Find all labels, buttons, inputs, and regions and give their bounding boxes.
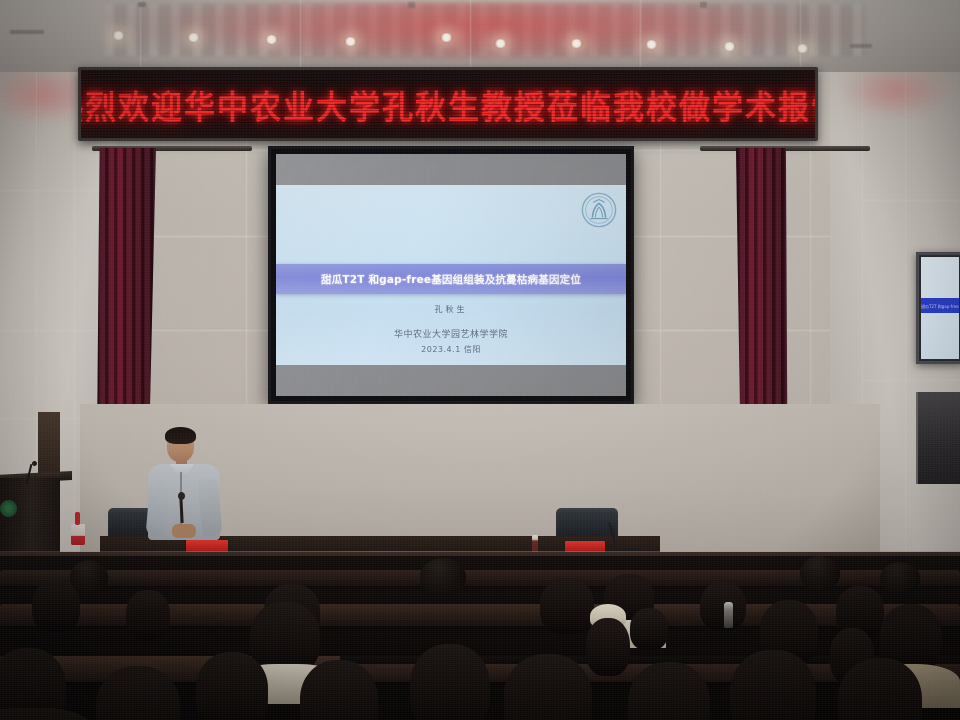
ceiling-downlight — [494, 39, 507, 48]
wall-seam — [0, 190, 100, 191]
audience-head — [420, 558, 466, 596]
ceiling-fixture — [138, 2, 146, 7]
ceiling-downlight — [440, 33, 453, 42]
audience-head — [730, 650, 816, 720]
audience-head — [880, 562, 920, 594]
ceiling-downlight — [112, 31, 125, 40]
wall-seam — [862, 200, 960, 201]
slide-author: 孔秋生 — [276, 304, 626, 315]
side-monitor-screen: 甜瓜T2T 和gap-free基因组组装及抗蔓枯病基因定位 — [921, 257, 959, 359]
water-bottle — [724, 602, 733, 628]
lectern[interactable] — [0, 478, 60, 556]
ceiling-red-reflection — [105, 2, 865, 60]
audience-head — [32, 580, 80, 632]
side-monitor-title-text: 甜瓜T2T 和gap-free基因组组装及抗蔓枯病基因定位 — [921, 298, 959, 315]
presentation-slide: 甜瓜T2T 和gap-free基因组组装及抗蔓枯病基因定位 孔秋生 华中农业大学… — [276, 185, 626, 364]
wall-seam — [74, 0, 75, 560]
right-wall-alcove — [916, 392, 960, 484]
ceiling-downlight — [344, 37, 357, 46]
ceiling-fixture — [408, 2, 415, 8]
audience-shoulders — [0, 708, 92, 720]
slide-affiliation: 华中农业大学园艺林学学院 — [276, 327, 626, 340]
led-welcome-banner: 热烈欢迎华中农业大学孔秋生教授莅临我校做学术报告 — [78, 67, 818, 141]
audience-head — [410, 644, 490, 720]
audience-head — [126, 590, 170, 640]
ceiling-downlight — [570, 39, 583, 48]
ceiling — [0, 0, 960, 72]
cup-lid — [75, 512, 80, 525]
drinking-cup — [71, 524, 85, 545]
ceiling-fixture — [850, 44, 872, 48]
audience-head — [540, 578, 594, 634]
audience-head — [504, 654, 592, 720]
slide-title: 甜瓜T2T 和gap-free基因组组装及抗蔓枯病基因定位 — [321, 272, 581, 287]
presenter-hands — [172, 524, 196, 538]
presenter-microphone-head — [178, 492, 185, 500]
slide-title-band: 甜瓜T2T 和gap-free基因组组装及抗蔓枯病基因定位 — [276, 264, 626, 294]
wall-seam — [862, 380, 960, 381]
ceiling-fixture — [700, 2, 707, 8]
audience-head — [196, 652, 268, 720]
projection-screen[interactable]: 甜瓜T2T 和gap-free基因组组装及抗蔓枯病基因定位 孔秋生 华中农业大学… — [268, 146, 634, 404]
lectern-microphone-head — [32, 461, 37, 466]
audience-head — [800, 556, 840, 590]
side-monitor-title-band: 甜瓜T2T 和gap-free基因组组装及抗蔓枯病基因定位 — [921, 298, 959, 313]
slide-date-location: 2023.4.1 信阳 — [276, 344, 626, 355]
wall-seam — [0, 330, 100, 331]
audience-head — [586, 618, 630, 676]
audience-head — [630, 608, 668, 650]
led-banner-text: 热烈欢迎华中农业大学孔秋生教授莅临我校做学术报告 — [78, 81, 818, 128]
ceiling-downlight — [187, 33, 200, 42]
side-monitor[interactable]: 甜瓜T2T 和gap-free基因组组装及抗蔓枯病基因定位 — [916, 252, 960, 364]
university-emblem-icon — [580, 191, 618, 229]
ceiling-downlight — [723, 42, 736, 51]
wall-seam — [905, 0, 906, 600]
ceiling-downlight — [265, 35, 278, 44]
presenter-hair — [165, 427, 196, 444]
ceiling-fixture — [10, 30, 44, 34]
ceiling-downlight — [796, 44, 809, 53]
lectern-emblem-icon — [0, 500, 17, 517]
ceiling-downlight — [645, 40, 658, 49]
audience-head — [700, 582, 746, 630]
projection-screen-surface: 甜瓜T2T 和gap-free基因组组装及抗蔓枯病基因定位 孔秋生 华中农业大学… — [276, 154, 626, 396]
audience-area — [0, 556, 960, 720]
lecture-hall-photo: 热烈欢迎华中农业大学孔秋生教授莅临我校做学术报告 甜瓜T2T 和gap-free… — [0, 0, 960, 720]
